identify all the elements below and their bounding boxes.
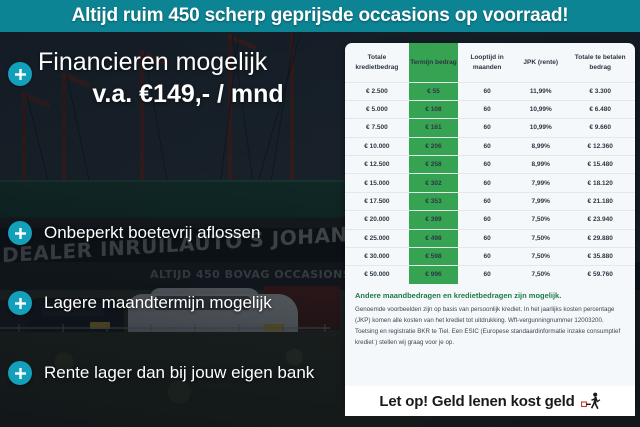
cell-termijn: € 161 bbox=[409, 119, 458, 137]
promo-bullet-item: Onbeperkt boetevrij aflossen bbox=[8, 220, 343, 246]
cell-krediet: € 12.500 bbox=[345, 156, 409, 174]
cell-termijn: € 399 bbox=[409, 211, 458, 229]
cell-jkp: 7,99% bbox=[516, 174, 565, 192]
cell-looptijd: 60 bbox=[458, 119, 516, 137]
promo-bullet-label: Onbeperkt boetevrij aflossen bbox=[44, 223, 260, 243]
table-row: € 7.500€ 1616010,99%€ 9.660 bbox=[345, 119, 635, 137]
promo-bullet-label: Rente lager dan bij jouw eigen bank bbox=[44, 363, 314, 383]
cell-totaal: € 3.300 bbox=[565, 82, 635, 100]
table-row: € 5.000€ 1086010,99%€ 6.480 bbox=[345, 100, 635, 118]
cell-termijn: € 353 bbox=[409, 192, 458, 210]
table-row: € 10.000€ 206608,99%€ 12.360 bbox=[345, 137, 635, 155]
cell-looptijd: 60 bbox=[458, 100, 516, 118]
promo-bullet-item: Lagere maandtermijn mogelijk bbox=[8, 290, 343, 316]
cell-termijn: € 55 bbox=[409, 82, 458, 100]
table-row: € 50.000€ 996607,50%€ 59.760 bbox=[345, 266, 635, 284]
cell-krediet: € 25.000 bbox=[345, 229, 409, 247]
promo-headline: Financieren mogelijk bbox=[38, 48, 338, 76]
credit-warning-text: Let op! Geld lenen kost geld bbox=[379, 393, 574, 410]
cell-krediet: € 15.000 bbox=[345, 174, 409, 192]
cell-krediet: € 7.500 bbox=[345, 119, 409, 137]
cell-looptijd: 60 bbox=[458, 192, 516, 210]
cell-krediet: € 2.500 bbox=[345, 82, 409, 100]
cell-krediet: € 17.500 bbox=[345, 192, 409, 210]
cell-jkp: 7,99% bbox=[516, 192, 565, 210]
cell-jkp: 11,99% bbox=[516, 82, 565, 100]
cell-krediet: € 50.000 bbox=[345, 266, 409, 284]
table-row: € 25.000€ 498607,50%€ 29.880 bbox=[345, 229, 635, 247]
cell-totaal: € 12.360 bbox=[565, 137, 635, 155]
promo-bullet-item: Rente lager dan bij jouw eigen bank bbox=[8, 360, 343, 386]
hero-stage: DEALER INRUILAUTO'S JOHAN MEURE ALTIJD 4… bbox=[0, 32, 640, 427]
cell-looptijd: 60 bbox=[458, 211, 516, 229]
promo-column: Financieren mogelijk v.a. €149,- / mnd O… bbox=[0, 32, 345, 427]
banner-text: Altijd ruim 450 scherp geprijsde occasio… bbox=[72, 5, 569, 27]
plus-circle-icon bbox=[8, 62, 32, 86]
footnote-title: Andere maandbedragen en kredietbedragen … bbox=[355, 291, 625, 302]
cell-looptijd: 60 bbox=[458, 82, 516, 100]
column-header-totaal: Totale te betalen bedrag bbox=[565, 43, 635, 82]
cell-jkp: 10,99% bbox=[516, 119, 565, 137]
cell-totaal: € 21.180 bbox=[565, 192, 635, 210]
rates-table-body: € 2.500€ 556011,99%€ 3.300€ 5.000€ 10860… bbox=[345, 82, 635, 284]
cell-jkp: 7,50% bbox=[516, 266, 565, 284]
cell-krediet: € 30.000 bbox=[345, 247, 409, 265]
column-header-looptijd: Looptijd in maanden bbox=[458, 43, 516, 82]
cell-jkp: 7,50% bbox=[516, 247, 565, 265]
cell-totaal: € 23.940 bbox=[565, 211, 635, 229]
top-promo-banner: Altijd ruim 450 scherp geprijsde occasio… bbox=[0, 0, 640, 32]
cell-totaal: € 15.480 bbox=[565, 156, 635, 174]
financing-rates-card: Totale kredietbedrag Termijn bedrag Loop… bbox=[345, 43, 635, 405]
cell-termijn: € 498 bbox=[409, 229, 458, 247]
walking-person-warning-icon bbox=[581, 392, 601, 410]
cell-looptijd: 60 bbox=[458, 247, 516, 265]
cell-termijn: € 258 bbox=[409, 156, 458, 174]
cell-looptijd: 60 bbox=[458, 266, 516, 284]
credit-warning-bar: Let op! Geld lenen kost geld bbox=[345, 386, 635, 416]
promo-subheadline: v.a. €149,- / mnd bbox=[38, 80, 338, 109]
cell-totaal: € 59.760 bbox=[565, 266, 635, 284]
column-header-termijn: Termijn bedrag bbox=[409, 43, 458, 82]
cell-jkp: 7,50% bbox=[516, 229, 565, 247]
cell-termijn: € 206 bbox=[409, 137, 458, 155]
cell-krediet: € 20.000 bbox=[345, 211, 409, 229]
column-header-krediet: Totale kredietbedrag bbox=[345, 43, 409, 82]
cell-termijn: € 302 bbox=[409, 174, 458, 192]
cell-krediet: € 5.000 bbox=[345, 100, 409, 118]
plus-circle-icon bbox=[8, 361, 32, 385]
cell-totaal: € 35.880 bbox=[565, 247, 635, 265]
cell-totaal: € 9.660 bbox=[565, 119, 635, 137]
cell-looptijd: 60 bbox=[458, 156, 516, 174]
cell-termijn: € 996 bbox=[409, 266, 458, 284]
table-row: € 20.000€ 399607,50%€ 23.940 bbox=[345, 211, 635, 229]
promo-bullet-label: Lagere maandtermijn mogelijk bbox=[44, 293, 272, 313]
table-row: € 12.500€ 258608,99%€ 15.480 bbox=[345, 156, 635, 174]
cell-looptijd: 60 bbox=[458, 137, 516, 155]
cell-looptijd: 60 bbox=[458, 229, 516, 247]
table-row: € 15.000€ 302607,99%€ 18.120 bbox=[345, 174, 635, 192]
cell-termijn: € 598 bbox=[409, 247, 458, 265]
column-header-jkp: JPK (rente) bbox=[516, 43, 565, 82]
table-row: € 30.000€ 598607,50%€ 35.880 bbox=[345, 247, 635, 265]
card-footnote: Andere maandbedragen en kredietbedragen … bbox=[345, 284, 635, 349]
cell-termijn: € 108 bbox=[409, 100, 458, 118]
cell-jkp: 8,99% bbox=[516, 156, 565, 174]
cell-krediet: € 10.000 bbox=[345, 137, 409, 155]
cell-totaal: € 6.480 bbox=[565, 100, 635, 118]
cell-jkp: 10,99% bbox=[516, 100, 565, 118]
plus-circle-icon bbox=[8, 221, 32, 245]
footnote-body: Genoemde voorbeelden zijn op basis van p… bbox=[355, 305, 625, 348]
cell-totaal: € 29.880 bbox=[565, 229, 635, 247]
cell-jkp: 8,99% bbox=[516, 137, 565, 155]
table-header-row: Totale kredietbedrag Termijn bedrag Loop… bbox=[345, 43, 635, 82]
plus-circle-icon bbox=[8, 291, 32, 315]
rates-table: Totale kredietbedrag Termijn bedrag Loop… bbox=[345, 43, 635, 284]
cell-totaal: € 18.120 bbox=[565, 174, 635, 192]
cell-looptijd: 60 bbox=[458, 174, 516, 192]
table-row: € 2.500€ 556011,99%€ 3.300 bbox=[345, 82, 635, 100]
table-row: € 17.500€ 353607,99%€ 21.180 bbox=[345, 192, 635, 210]
cell-jkp: 7,50% bbox=[516, 211, 565, 229]
